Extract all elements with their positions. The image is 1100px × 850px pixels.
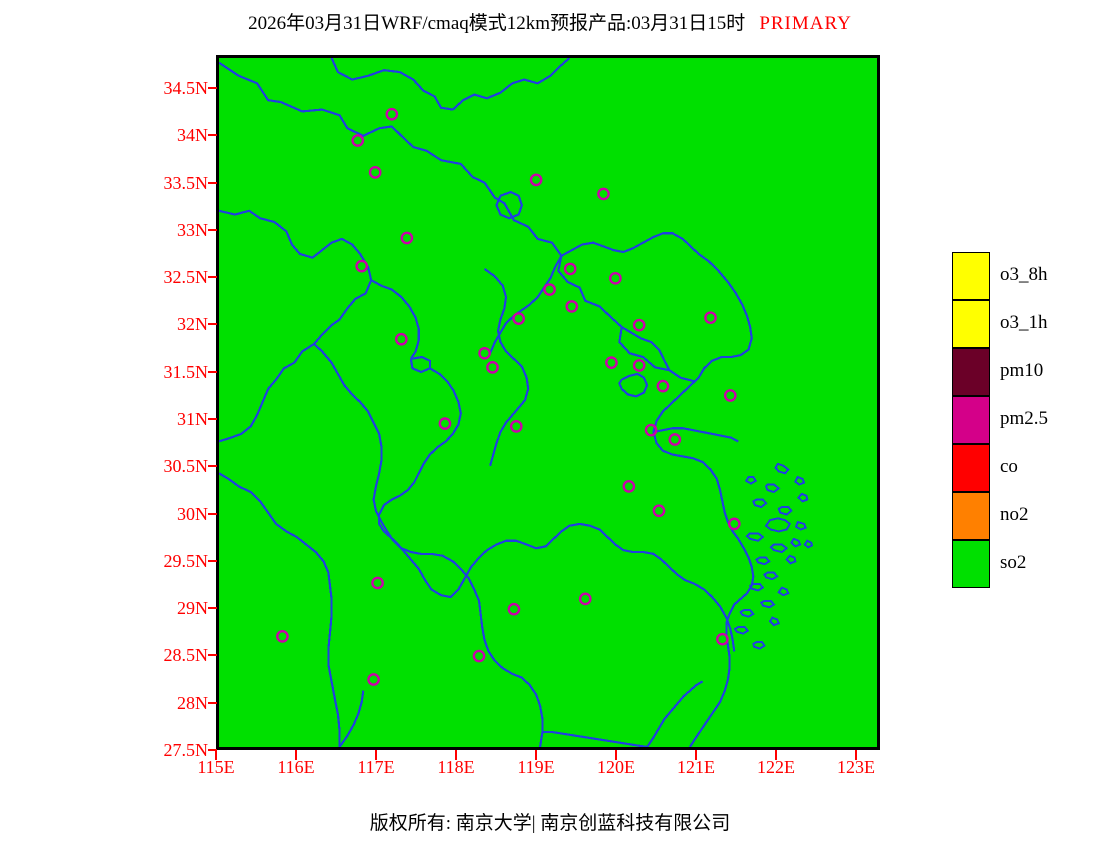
map-border-path <box>771 545 787 552</box>
legend-label: pm2.5 <box>1000 408 1048 430</box>
legend-item-o31h[interactable]: o3_1h <box>952 300 1092 348</box>
station-marker[interactable] <box>544 284 554 294</box>
y-axis-label: 30.5N <box>164 457 209 475</box>
map-canvas <box>219 58 877 747</box>
station-marker[interactable] <box>353 135 363 145</box>
station-marker[interactable] <box>402 233 412 243</box>
station-marker[interactable] <box>509 604 519 614</box>
y-axis-label: 34.5N <box>164 79 209 97</box>
legend-label: o3_8h <box>1000 264 1048 286</box>
y-axis-label: 29.5N <box>164 552 209 570</box>
map-border-path <box>401 524 734 651</box>
legend-item-pm25[interactable]: pm2.5 <box>952 396 1092 444</box>
x-axis-label: 118E <box>437 758 474 776</box>
map-border-path <box>219 344 314 441</box>
y-axis-label: 32.5N <box>164 268 209 286</box>
station-marker[interactable] <box>705 313 715 323</box>
map-border-path <box>219 63 695 382</box>
map-border-path <box>653 381 753 747</box>
station-marker[interactable] <box>368 674 378 684</box>
y-axis-tick <box>208 276 217 278</box>
legend-swatch <box>952 540 990 588</box>
map-border-path <box>741 610 754 617</box>
chart-title: 2026年03月31日WRF/cmaq模式12km预报产品:03月31日15时P… <box>0 12 1100 36</box>
station-marker[interactable] <box>670 434 680 444</box>
map-border-path <box>332 58 570 110</box>
station-marker[interactable] <box>474 651 484 661</box>
legend-label: o3_1h <box>1000 312 1048 334</box>
legend-swatch <box>952 492 990 540</box>
map-border-path <box>485 269 529 466</box>
y-axis-tick <box>208 465 217 467</box>
map-border-path <box>787 556 796 564</box>
station-marker[interactable] <box>396 334 406 344</box>
map-border-path <box>219 211 371 344</box>
map-border-path <box>791 539 800 547</box>
y-axis-label: 30N <box>177 505 208 523</box>
y-axis-tick <box>208 702 217 704</box>
legend-item-so2[interactable]: so2 <box>952 540 1092 588</box>
map-border-path <box>735 627 748 634</box>
x-axis-label: 121E <box>677 758 715 776</box>
y-axis-tick <box>208 560 217 562</box>
map-border-path <box>622 327 670 370</box>
x-axis-label: 119E <box>517 758 554 776</box>
y-axis-tick <box>208 229 217 231</box>
station-marker[interactable] <box>598 189 608 199</box>
y-axis-tick <box>208 182 217 184</box>
y-axis-tick <box>208 654 217 656</box>
station-marker[interactable] <box>479 348 489 358</box>
legend-swatch <box>952 300 990 348</box>
station-marker[interactable] <box>580 594 590 604</box>
station-marker[interactable] <box>658 381 668 391</box>
station-marker[interactable] <box>372 578 382 588</box>
station-marker[interactable] <box>725 390 735 400</box>
station-marker[interactable] <box>565 264 575 274</box>
legend-item-pm10[interactable]: pm10 <box>952 348 1092 396</box>
y-axis-label: 28N <box>177 694 208 712</box>
station-marker[interactable] <box>387 109 397 119</box>
station-marker[interactable] <box>277 631 287 641</box>
y-axis-tick <box>208 418 217 420</box>
legend-swatch <box>952 444 990 492</box>
chart-title-primary: PRIMARY <box>759 13 852 34</box>
legend-swatch <box>952 252 990 300</box>
map-border-path <box>542 732 647 747</box>
y-axis-label: 32N <box>177 315 208 333</box>
y-axis-tick <box>208 607 217 609</box>
map-border-path <box>411 357 430 372</box>
map-plot-area[interactable] <box>216 55 880 750</box>
map-border-path <box>747 533 763 540</box>
y-axis-label: 31N <box>177 410 208 428</box>
station-marker[interactable] <box>634 320 644 330</box>
chart-title-main: 2026年03月31日WRF/cmaq模式12km预报产品:03月31日15时 <box>248 13 745 34</box>
map-border-path <box>371 280 419 359</box>
map-border-path <box>219 473 340 747</box>
map-border-path <box>695 254 752 381</box>
station-marker[interactable] <box>357 261 367 271</box>
map-border-path <box>805 541 812 548</box>
map-border-path <box>779 507 792 515</box>
map-border-path <box>746 477 756 484</box>
map-border-path <box>379 368 461 548</box>
map-border-path <box>756 558 769 565</box>
x-axis-label: 115E <box>197 758 234 776</box>
station-marker[interactable] <box>654 506 664 516</box>
station-marker[interactable] <box>634 360 644 370</box>
map-border-path <box>619 374 647 396</box>
x-axis-label: 120E <box>597 758 635 776</box>
station-marker[interactable] <box>487 362 497 372</box>
station-marker[interactable] <box>624 481 634 491</box>
station-marker[interactable] <box>606 358 616 368</box>
y-axis-label: 29N <box>177 599 208 617</box>
y-axis-tick <box>208 323 217 325</box>
map-border-path <box>796 522 806 530</box>
map-border-path <box>761 601 774 608</box>
map-border-path <box>776 464 789 473</box>
copyright-footer: 版权所有: 南京大学| 南京创蓝科技有限公司 <box>0 812 1100 836</box>
station-marker[interactable] <box>729 519 739 529</box>
map-border-path <box>750 584 763 591</box>
legend-label: no2 <box>1000 504 1029 526</box>
y-axis-tick <box>208 513 217 515</box>
station-marker[interactable] <box>531 175 541 185</box>
station-marker[interactable] <box>514 313 524 323</box>
y-axis-label: 28.5N <box>164 646 209 664</box>
map-border-path <box>647 681 702 747</box>
map-border-path <box>496 192 521 218</box>
legend-swatch <box>952 348 990 396</box>
y-axis-label: 34N <box>177 126 208 144</box>
y-axis-tick <box>208 87 217 89</box>
y-axis-label: 33N <box>177 221 208 239</box>
x-axis-label: 123E <box>837 758 875 776</box>
map-border-path <box>770 618 779 625</box>
map-border-path <box>653 428 738 441</box>
map-border-path <box>766 485 779 492</box>
y-axis-tick <box>208 371 217 373</box>
x-axis-label: 117E <box>357 758 394 776</box>
map-border-path <box>764 573 777 580</box>
map-border-path <box>766 518 790 531</box>
map-border-path <box>753 642 764 649</box>
station-marker[interactable] <box>370 167 380 177</box>
legend-label: co <box>1000 456 1018 478</box>
y-axis-label: 31.5N <box>164 363 209 381</box>
legend: o3_8ho3_1hpm10pm2.5cono2so2 <box>952 252 1092 588</box>
y-axis-label: 33.5N <box>164 174 209 192</box>
legend-label: so2 <box>1000 552 1026 574</box>
x-axis-label: 116E <box>277 758 314 776</box>
map-border-path <box>314 344 542 747</box>
map-border-path <box>340 691 364 747</box>
map-border-path <box>779 588 789 596</box>
station-marker[interactable] <box>440 418 450 428</box>
legend-swatch <box>952 396 990 444</box>
x-axis-label: 122E <box>757 758 795 776</box>
legend-item-o38h[interactable]: o3_8h <box>952 252 1092 300</box>
station-marker[interactable] <box>567 301 577 311</box>
map-border-path <box>753 500 766 507</box>
station-marker[interactable] <box>511 421 521 431</box>
legend-label: pm10 <box>1000 360 1043 382</box>
legend-item-no2[interactable]: no2 <box>952 492 1092 540</box>
station-marker[interactable] <box>610 273 620 283</box>
y-axis-tick <box>208 134 217 136</box>
map-border-path <box>561 233 698 256</box>
map-border-path <box>799 494 808 502</box>
map-border-path <box>795 477 804 485</box>
legend-item-co[interactable]: co <box>952 444 1092 492</box>
